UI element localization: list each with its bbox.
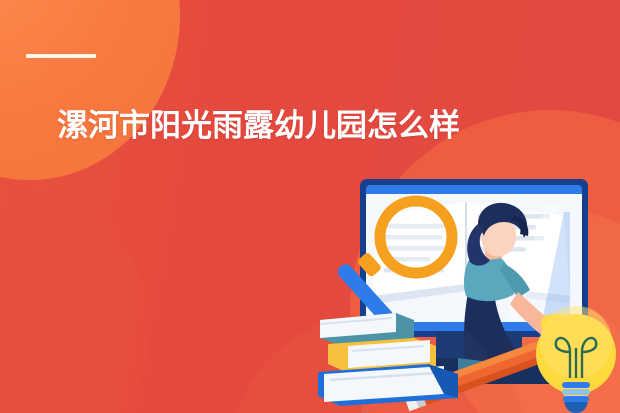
promo-banner: 漯河市阳光雨露幼儿园怎么样 (0, 0, 620, 413)
magnifier-lens (386, 207, 446, 267)
page-title: 漯河市阳光雨露幼儿园怎么样 (57, 106, 460, 146)
illustration-svg (318, 172, 620, 413)
online-research-illustration (318, 172, 620, 413)
divider-rule (26, 54, 96, 58)
